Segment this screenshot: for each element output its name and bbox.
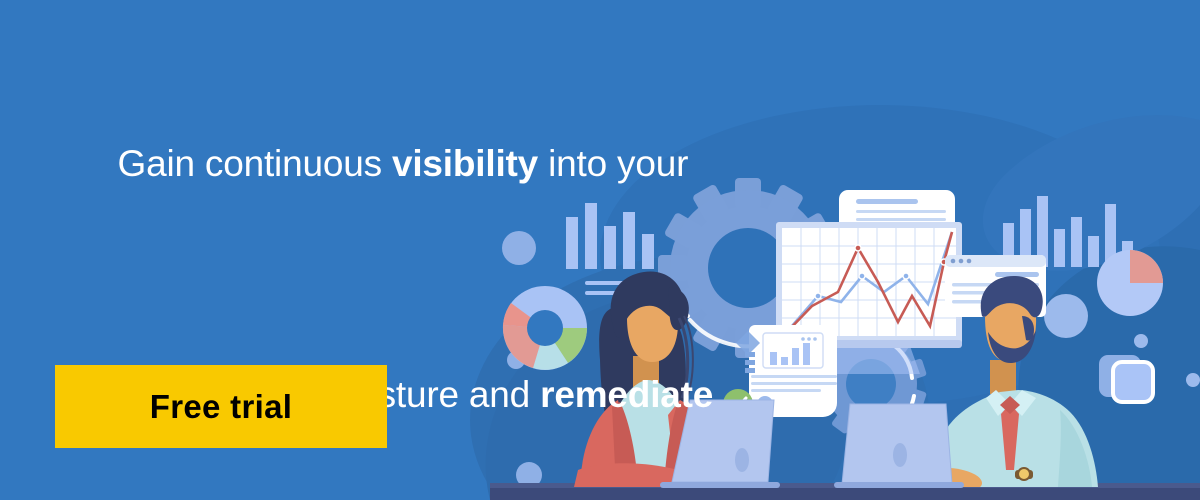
free-trial-button[interactable]: Free trial bbox=[55, 365, 387, 448]
promo-banner: Gain continuous visibility into your con… bbox=[0, 0, 1200, 500]
headline-text-plain: Gain continuous bbox=[117, 143, 391, 184]
rounded-square-decor bbox=[1099, 355, 1153, 402]
headline-line-1: Gain continuous visibility into your bbox=[57, 48, 757, 279]
headline-text-bold: remediate bbox=[540, 374, 713, 415]
headline-text-plain: into your bbox=[538, 143, 688, 184]
headline-text-bold: visibility bbox=[392, 143, 538, 184]
pie-chart-icon bbox=[1097, 250, 1163, 316]
